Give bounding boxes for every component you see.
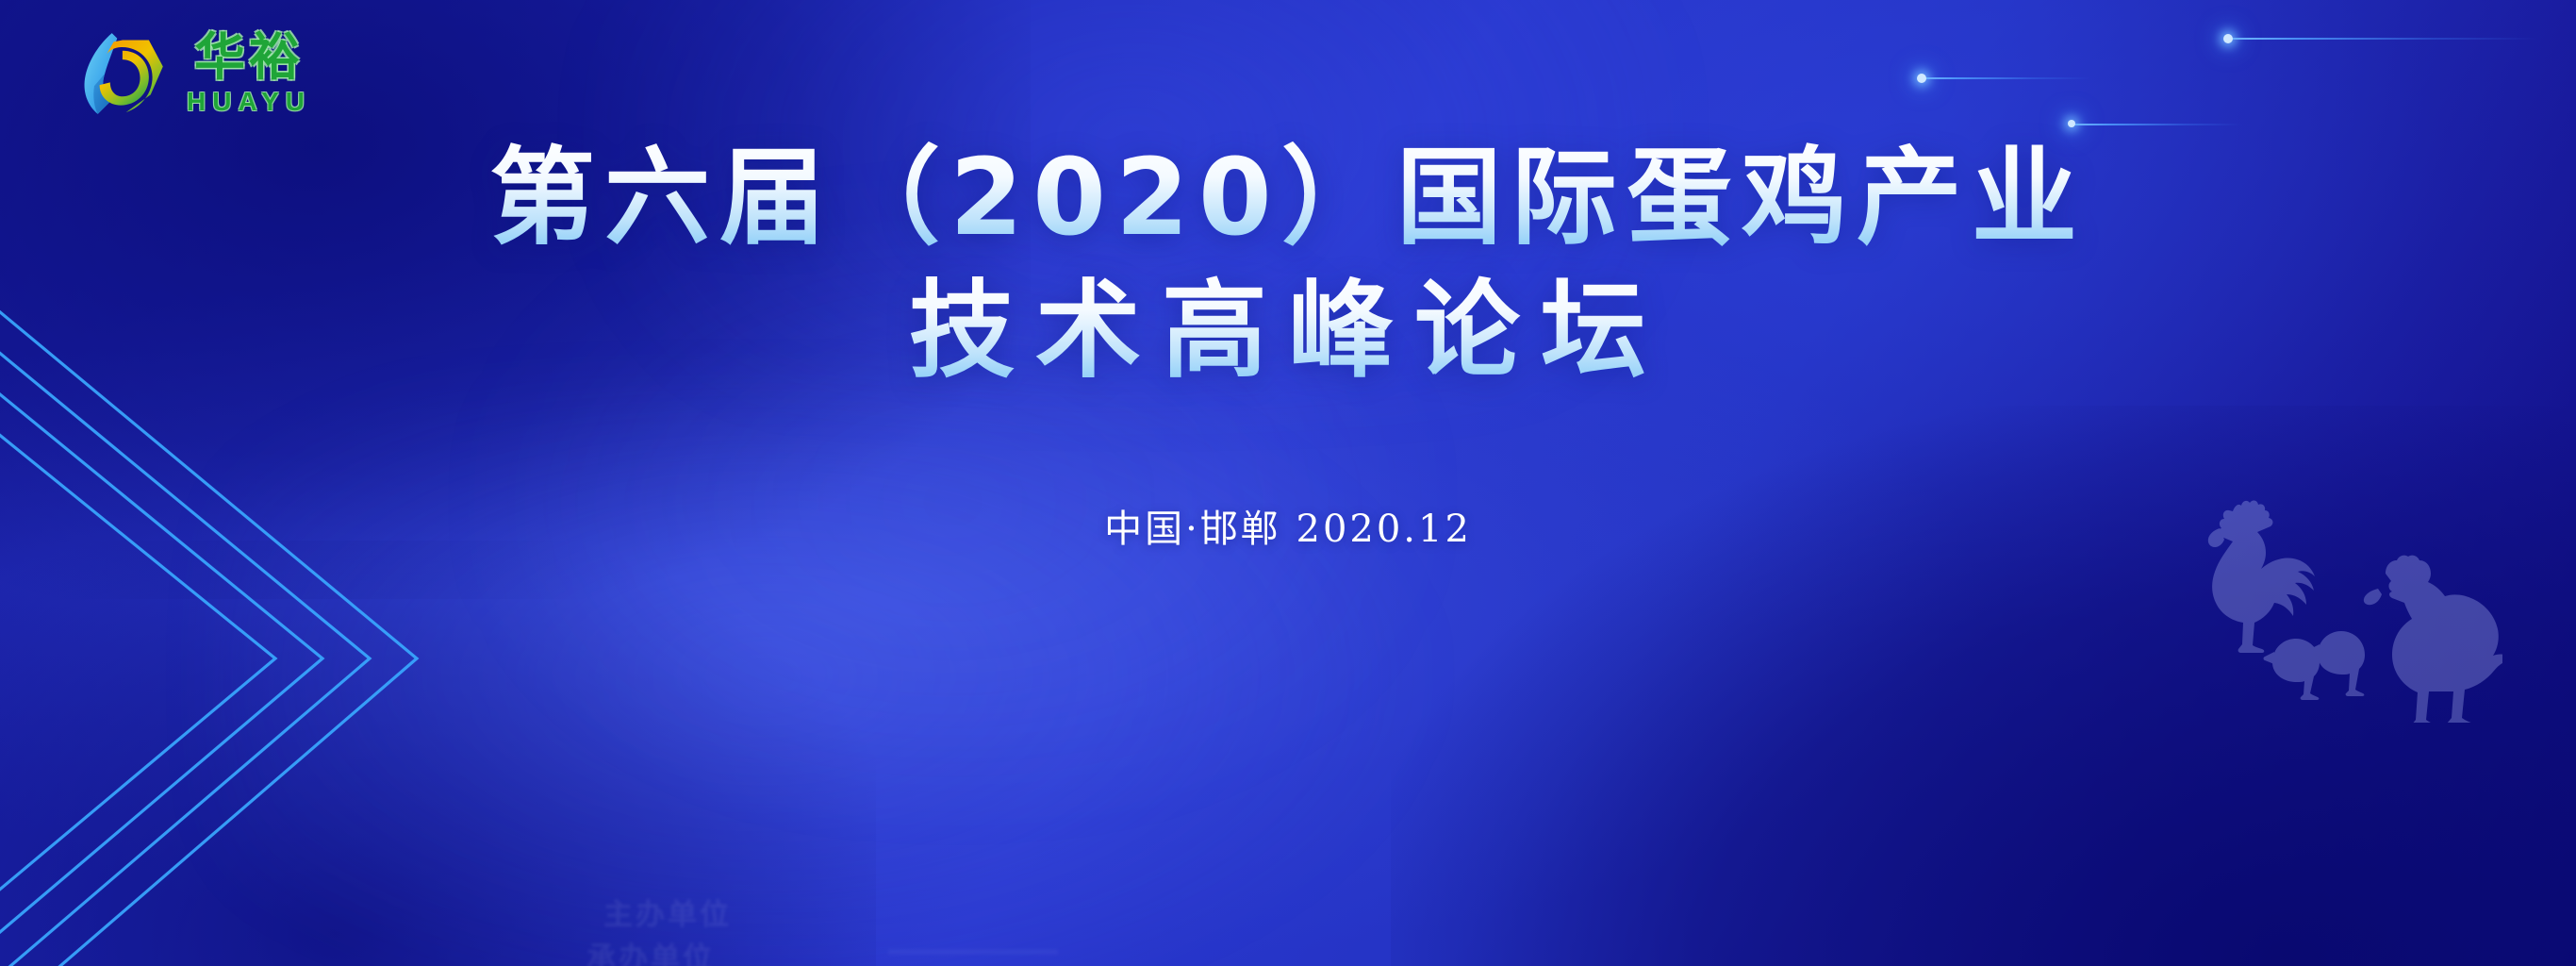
hen-icon (2364, 556, 2502, 723)
organiser-rule (888, 949, 1058, 955)
streak-line-2 (1921, 77, 2090, 79)
headline-line-1: 第六届（2020）国际蛋鸡产业 (0, 132, 2576, 265)
streak-line-1 (2227, 38, 2538, 40)
streak-line-3 (2072, 124, 2241, 125)
streak-dot-3 (2068, 120, 2075, 127)
huayu-logo-name-cn: 华裕 (194, 32, 304, 83)
streak-dot-2 (1917, 74, 1926, 83)
subtitle-location-date: 中国·邯郸 2020.12 (0, 498, 2576, 553)
huayu-logo-mark-icon (68, 21, 173, 126)
streak-dot-1 (2223, 34, 2233, 43)
conference-banner: 华裕 HUAYU 第六届（2020）国际蛋鸡产业 技术高峰论坛 中国·邯郸 20… (0, 0, 2576, 966)
chicken-silhouettes-icon (2191, 477, 2502, 723)
headline: 第六届（2020）国际蛋鸡产业 技术高峰论坛 (0, 132, 2576, 398)
organiser-label-host: 主办单位 (603, 891, 732, 933)
huayu-logo-name-en: HUAYU (187, 89, 311, 115)
headline-line-2: 技术高峰论坛 (0, 265, 2576, 398)
huayu-logo[interactable]: 华裕 HUAYU (68, 21, 311, 126)
organiser-credits: 主办单位 承办单位 (577, 875, 1162, 966)
rooster-icon (2208, 501, 2315, 653)
chevron-decoration-icon (0, 375, 485, 966)
organiser-label-cohost: 承办单位 (586, 934, 715, 966)
huayu-logo-text: 华裕 HUAYU (187, 32, 311, 115)
chick-icon-1 (2264, 639, 2320, 700)
